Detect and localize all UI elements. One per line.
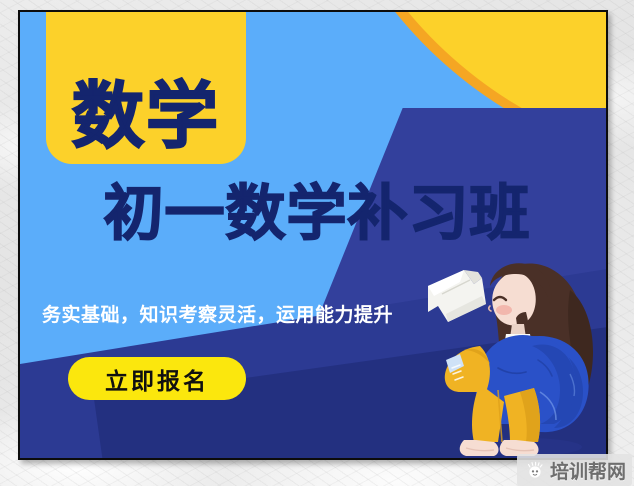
- poster-canvas: 数学 初一数学补习班 务实基础，知识考察灵活，运用能力提升 立即报名: [20, 12, 606, 458]
- subject-badge: 数学: [46, 12, 246, 164]
- watermark-label: 培训帮网: [550, 457, 626, 484]
- watermark: 培训帮网: [517, 454, 632, 486]
- subject-badge-label: 数学: [72, 80, 220, 152]
- course-poster: 数学 初一数学补习班 务实基础，知识考察灵活，运用能力提升 立即报名: [18, 10, 608, 460]
- girl-reading-illustration: [420, 242, 606, 458]
- poster-subtitle: 务实基础，知识考察灵活，运用能力提升: [42, 300, 393, 327]
- sun-face-icon: [525, 460, 545, 480]
- enroll-now-button-label: 立即报名: [105, 362, 209, 396]
- page-title: 初一数学补习班: [36, 184, 598, 244]
- enroll-now-button[interactable]: 立即报名: [68, 357, 246, 400]
